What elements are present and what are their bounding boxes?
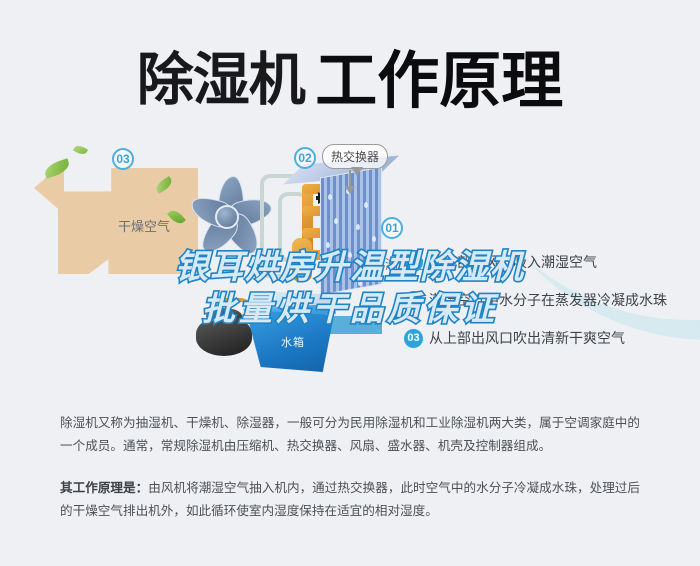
dry-air-label: 干燥空气 [118, 216, 170, 235]
diagram-badge-02: 02 [294, 147, 316, 169]
callout-pointer-icon [349, 170, 351, 188]
water-tank-label: 水箱 [268, 334, 318, 350]
step-text: 从下部进风口吸入潮湿空气 [429, 252, 597, 272]
paragraph-1: 除湿机又称为抽湿机、干燥机、除湿器，一般可分为民用除湿机和工业除湿机两大类，属于… [60, 412, 640, 459]
condensation-droplets [320, 184, 382, 292]
step-text: 从上部出风口吹出清新干爽空气 [429, 328, 625, 348]
heat-exchanger-callout: 热交换器 [322, 144, 388, 169]
step-text: 潮湿空气中水分子在蒸发器冷凝成水珠 [429, 290, 667, 310]
list-item: 02 潮湿空气中水分子在蒸发器冷凝成水珠 [404, 290, 700, 310]
fan-hub [215, 205, 239, 229]
diagram-badge-01: 01 [381, 217, 403, 239]
step-number-badge: 01 [404, 253, 423, 272]
step-number-badge: 02 [404, 291, 423, 310]
infographic-page: 除湿机 工作原理 [0, 0, 700, 566]
list-item: 01 从下部进风口吸入潮湿空气 [404, 252, 700, 272]
compressor [196, 316, 252, 356]
page-title: 除湿机 工作原理 [0, 30, 700, 120]
leaf-icon [73, 143, 88, 156]
list-item: 03 从上部出风口吹出清新干爽空气 [404, 328, 700, 348]
paragraph-2: 其工作原理是：由风机将潮湿空气抽入机内，通过热交换器，此时空气中的水分子冷凝成水… [60, 477, 640, 524]
process-step-list: 01 从下部进风口吸入潮湿空气 02 潮湿空气中水分子在蒸发器冷凝成水珠 03 … [404, 252, 700, 366]
body-copy: 除湿机又称为抽湿机、干燥机、除湿器，一般可分为民用除湿机和工业除湿机两大类，属于… [0, 412, 700, 541]
page-title-part-b: 工作原理 [315, 47, 563, 116]
diagram-badge-03: 03 [112, 148, 134, 170]
receiver-tank [292, 238, 312, 282]
paragraph-2-lead: 其工作原理是： [60, 481, 148, 495]
step-number-badge: 03 [404, 329, 423, 348]
page-title-part-a: 除湿机 [137, 48, 305, 112]
